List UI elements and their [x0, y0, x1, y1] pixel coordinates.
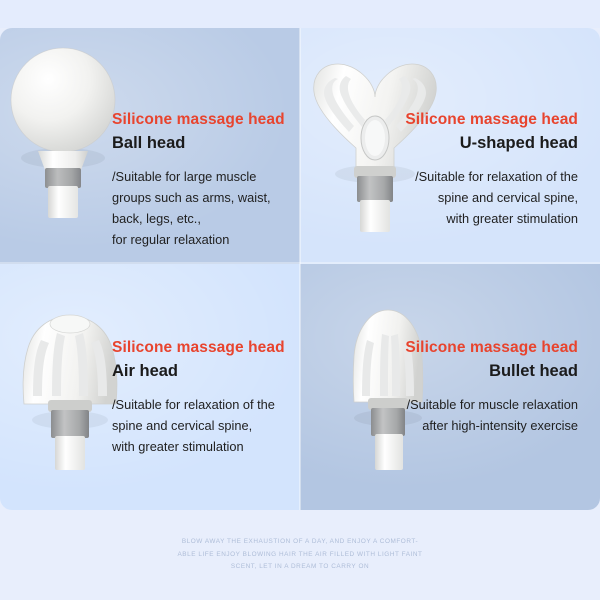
product-description-line: spine and cervical spine,: [405, 187, 578, 208]
product-infographic: Silicone massage head Ball head /Suitabl…: [0, 0, 600, 600]
product-text-bullet-head: Silicone massage head Bullet head /Suita…: [405, 338, 578, 436]
product-description-line: back, legs, etc.,: [112, 208, 285, 229]
product-description-line: groups such as arms, waist,: [112, 187, 285, 208]
product-description-line: with greater stimulation: [112, 436, 285, 457]
footer-line: BLOW AWAY THE EXHAUSTION OF A DAY, AND E…: [0, 536, 600, 549]
product-description-line: /Suitable for relaxation of the: [405, 166, 578, 187]
footer-line: SCENT, LET IN A DREAM TO CARRY ON: [0, 561, 600, 574]
product-name: Ball head: [112, 132, 285, 154]
product-name: Bullet head: [405, 360, 578, 382]
product-description-line: for regular relaxation: [112, 229, 285, 250]
product-text-air-head: Silicone massage head Air head /Suitable…: [112, 338, 285, 457]
product-kicker: Silicone massage head: [112, 110, 285, 130]
footer-line: ABLE LIFE ENJOY BLOWING HAIR THE AIR FIL…: [0, 549, 600, 562]
product-name: Air head: [112, 360, 285, 382]
product-description-line: /Suitable for muscle relaxation: [405, 394, 578, 415]
product-kicker: Silicone massage head: [405, 110, 578, 130]
product-text-u-shaped-head: Silicone massage head U-shaped head /Sui…: [405, 110, 578, 229]
vertical-divider: [299, 28, 301, 510]
top-margin-band: [0, 0, 600, 28]
footer-tagline: BLOW AWAY THE EXHAUSTION OF A DAY, AND E…: [0, 536, 600, 574]
product-description: /Suitable for muscle relaxation after hi…: [405, 394, 578, 436]
product-text-ball-head: Silicone massage head Ball head /Suitabl…: [112, 110, 285, 250]
product-description-line: spine and cervical spine,: [112, 415, 285, 436]
product-description-line: after high-intensity exercise: [405, 415, 578, 436]
product-name: U-shaped head: [405, 132, 578, 154]
product-description-line: /Suitable for relaxation of the: [112, 394, 285, 415]
horizontal-divider: [0, 262, 600, 264]
product-description-line: with greater stimulation: [405, 208, 578, 229]
product-description: /Suitable for relaxation of the spine an…: [405, 166, 578, 229]
product-description: /Suitable for large muscle groups such a…: [112, 166, 285, 250]
product-description-line: /Suitable for large muscle: [112, 166, 285, 187]
product-kicker: Silicone massage head: [405, 338, 578, 358]
product-kicker: Silicone massage head: [112, 338, 285, 358]
product-description: /Suitable for relaxation of the spine an…: [112, 394, 285, 457]
